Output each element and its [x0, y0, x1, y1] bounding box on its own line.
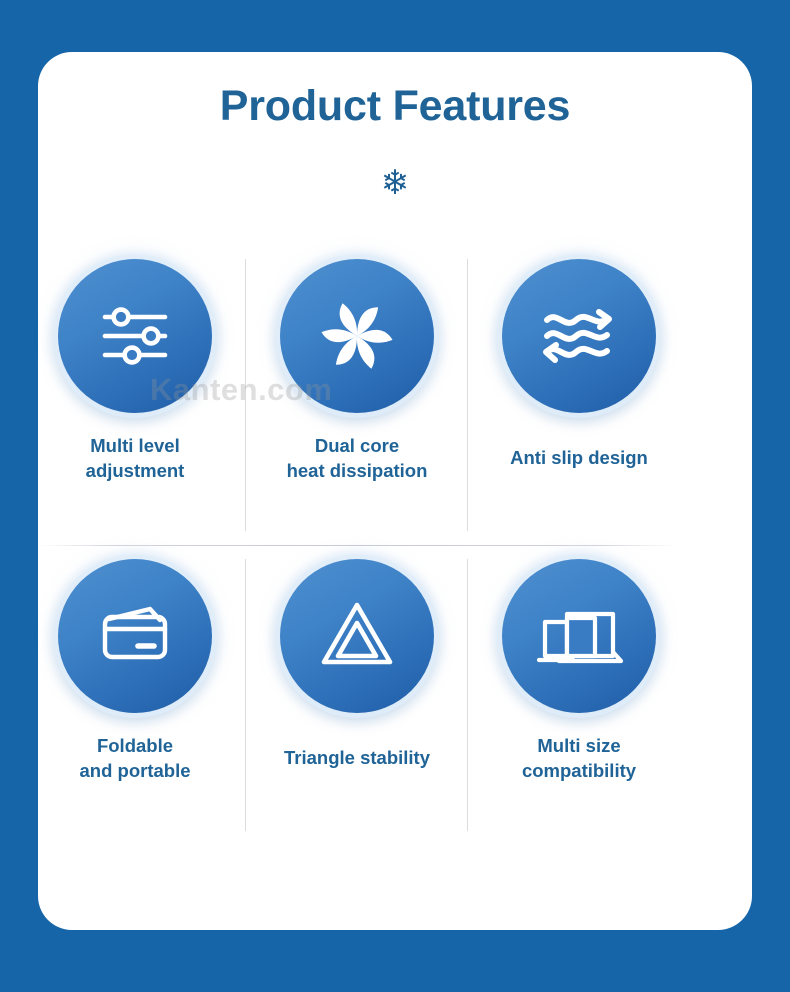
- feature-label: Dual core heat dissipation: [287, 434, 428, 483]
- feature-label: Multi size compatibility: [522, 734, 636, 783]
- triangle-stability-icon: [280, 559, 434, 713]
- snowflake-icon: ❄: [0, 166, 790, 200]
- feature-item-foldable-and-portable[interactable]: Foldable and portable: [24, 545, 246, 845]
- feature-item-multi-level-adjustment[interactable]: Multi level adjustment: [24, 245, 246, 545]
- wallet-foldable-icon: [58, 559, 212, 713]
- feature-item-multi-size-compatibility[interactable]: Multi size compatibility: [468, 545, 690, 845]
- multi-device-icon: [502, 559, 656, 713]
- features-grid: Multi level adjustment Dual core heat di…: [24, 245, 690, 845]
- fan-turbine-icon: [280, 259, 434, 413]
- page-title: Product Features: [0, 82, 790, 131]
- feature-item-triangle-stability[interactable]: Triangle stability: [246, 545, 468, 845]
- feature-label: Anti slip design: [510, 446, 648, 471]
- feature-item-anti-slip-design[interactable]: Anti slip design: [468, 245, 690, 545]
- airflow-waves-icon: [502, 259, 656, 413]
- sliders-adjustment-icon: [58, 259, 212, 413]
- feature-label: Foldable and portable: [79, 734, 190, 783]
- feature-label: Multi level adjustment: [86, 434, 185, 483]
- feature-label: Triangle stability: [284, 746, 430, 771]
- feature-item-dual-core-heat-dissipation[interactable]: Dual core heat dissipation: [246, 245, 468, 545]
